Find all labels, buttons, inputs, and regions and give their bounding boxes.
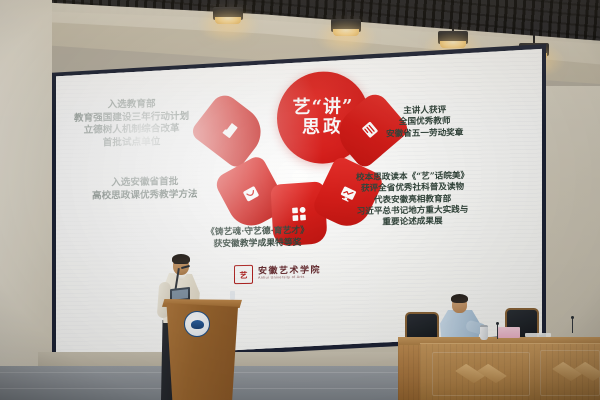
left-wall [0,0,52,400]
logo-name-en: Anhui University of Arts [258,276,321,281]
desk-microphone[interactable] [497,324,498,339]
water-cup[interactable] [230,291,235,300]
envelope-icon [240,183,262,205]
folder-icon [219,119,241,141]
ceiling-lamp [438,31,468,44]
slide-blurb-bottom-center: 《铸艺魂·守艺德·育艺才》 获安徽教学成果特等奖 [206,226,309,251]
podium-emblem-icon [184,311,210,337]
slide-blurb-bottom-left: 入选安徽省首批 高校思政课优秀教学方法 [92,176,198,203]
ceiling-lamp [331,19,361,32]
slide-blurb-top-right: 主讲人获评 全国优秀教师 安徽省五一劳动奖章 [386,105,463,140]
badge-line-2: 思政 [302,117,344,138]
panelist-hair [451,294,468,303]
badge-line-1: 艺“讲” [293,97,354,118]
slide-blurb-bottom-right: 校本思政读本《“艺”话皖美》 获评全省优秀社科普及读物 代表安徽亮相教育部 习近… [356,171,469,230]
desk-microphone[interactable] [572,318,573,333]
university-logo: 艺 安徽艺术学院 Anhui University of Arts [234,264,321,285]
apps-grid-icon [291,205,308,222]
thermos-cup[interactable] [480,325,488,340]
logo-text: 安徽艺术学院 Anhui University of Arts [258,266,321,280]
document-lines-icon [359,118,382,141]
logo-mark-icon: 艺 [234,265,253,284]
name-card [498,327,520,338]
conference-hall-photo: 艺“讲” 思政 [0,0,600,400]
ceiling-lamp [213,7,243,20]
desk-paper [525,333,551,337]
slide-blurb-top-left: 入选教育部 教育强国建设三年行动计划 立德树人机制综合改革 首批试点单位 [74,98,189,151]
